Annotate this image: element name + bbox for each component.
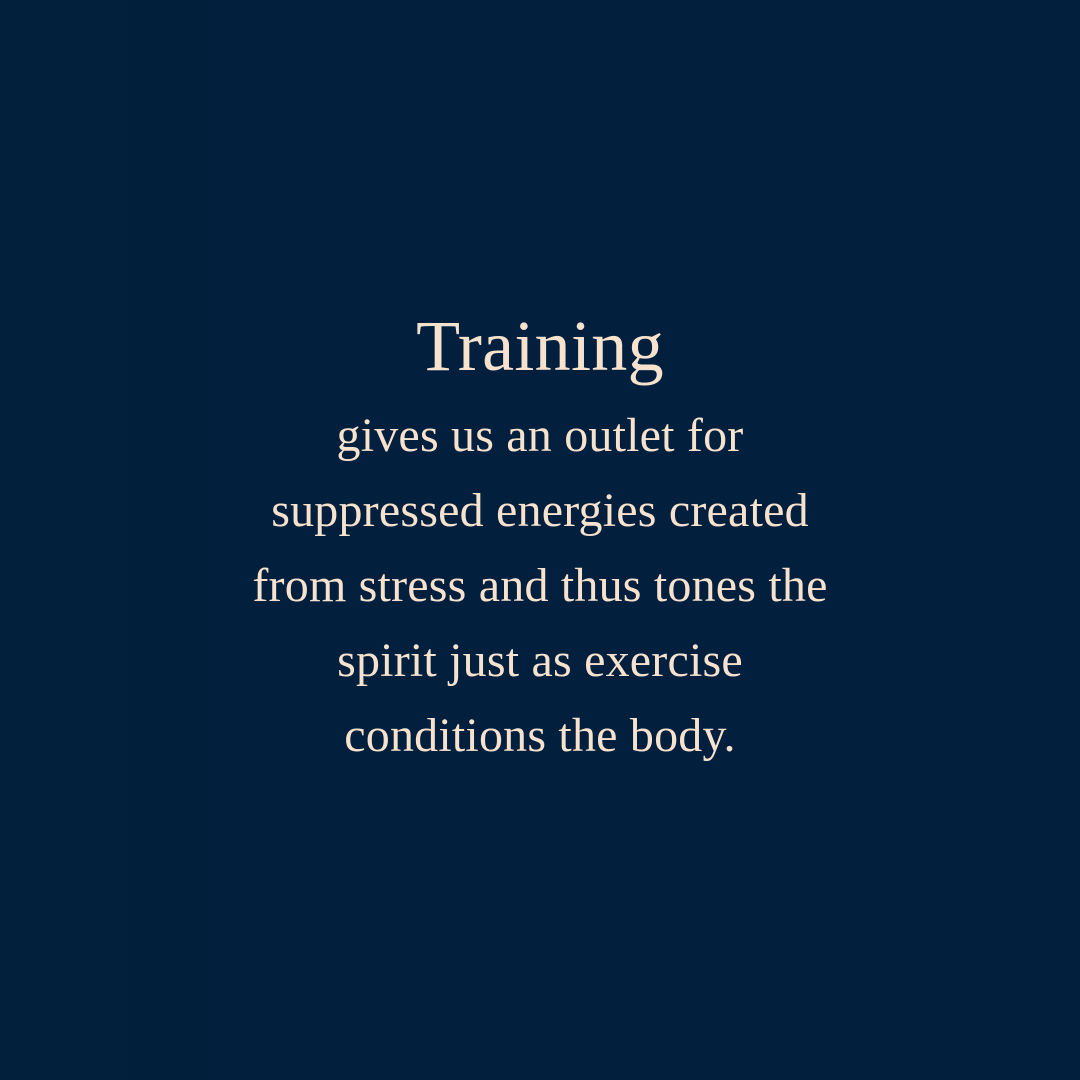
quote-title: Training <box>0 306 1080 386</box>
quote-line: spirit just as exercise <box>160 623 920 698</box>
quote-line: gives us an outlet for <box>160 398 920 473</box>
quote-line: from stress and thus tones the <box>160 548 920 623</box>
quote-card: Training gives us an outlet for suppress… <box>0 0 1080 1080</box>
quote-line: suppressed energies created <box>160 473 920 548</box>
quote-body: gives us an outlet for suppressed energi… <box>160 398 920 773</box>
quote-line: conditions the body. <box>160 698 920 773</box>
quote-text-block: Training gives us an outlet for suppress… <box>0 0 1080 1080</box>
